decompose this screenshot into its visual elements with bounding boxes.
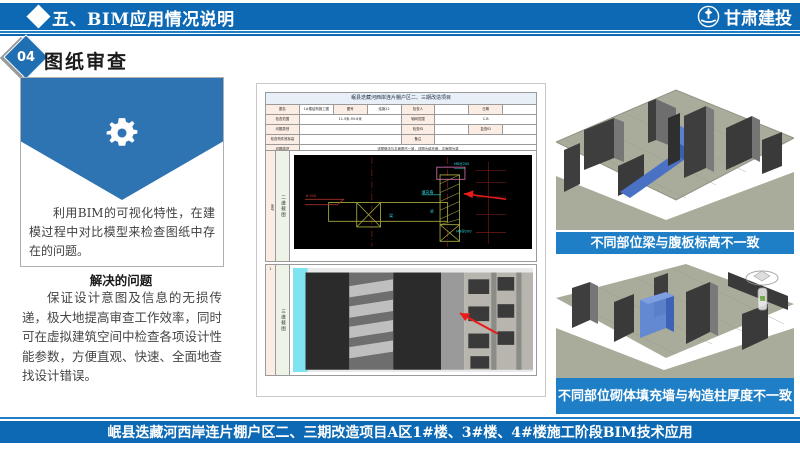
table-row: 问题类别 检查ID 复查ID: [266, 125, 537, 135]
cad-row-label: 二维截图: [275, 150, 289, 262]
company-logo: 甘肃建投: [697, 4, 792, 28]
cell-label: 日期: [469, 105, 503, 115]
cell-label: 图号: [333, 105, 367, 115]
cell-value: 1#楼结构施工图: [299, 105, 333, 115]
cell-value: 11.5米-95.6米: [299, 115, 401, 125]
cell-label: 复查ID: [469, 125, 503, 135]
bim-model-snapshot: [293, 268, 533, 372]
slide-root: 五、BIM应用情况说明 甘肃建投 04 图纸审查 利用BIM的可视化特性，在建模…: [0, 0, 800, 451]
caption-bottom: 不同部位砌体填充墙与构造柱厚度不一致: [556, 378, 794, 414]
section-title: 图纸审查: [44, 47, 128, 74]
company-emblem-icon: [697, 5, 720, 28]
bim-review-sheet[interactable]: 岷县迭藏河西岸连片棚户区二、三期改造项目 图名 1#楼结构施工图 图号 结施22…: [256, 83, 546, 397]
cell-value: C-B: [435, 115, 537, 125]
cad-red-arrow: [464, 190, 506, 199]
footer-accent-line: [0, 417, 800, 419]
header-accent-line: [0, 31, 800, 33]
model-row-label: 三维截图: [275, 264, 289, 376]
cad-viewport: 6.950 填充墙 梁 M8@200 M8@200 梁: [294, 155, 532, 249]
cell-label: 检查ID: [401, 125, 435, 135]
bim-beam-model: [556, 80, 794, 230]
sheet-title: 岷县迭藏河西岸连片棚户区二、三期改造项目: [266, 93, 537, 105]
cell-value: [299, 135, 401, 145]
body-paragraph: 保证设计意图及信息的无损传递，极大地提高审查工作效率，同时可在虚拟建筑空间中检查…: [22, 288, 222, 386]
cell-label: 检查人: [401, 105, 435, 115]
card-description: 利用BIM的可视化特性，在建模过程中对比模型来检查图纸中存在的问题。: [29, 204, 215, 261]
model-view-top[interactable]: [556, 80, 794, 230]
table-row: 检查范围 11.5米-95.6米 轴网范围 C-B: [266, 115, 537, 125]
model-canvas[interactable]: [289, 264, 537, 376]
bim-wall-model: [556, 258, 794, 378]
model-view-bottom[interactable]: [556, 258, 794, 378]
table-row: 图名 1#楼结构施工图 图号 结施22 检查人 日期: [266, 105, 537, 115]
cad-detail-drawing: 6.950 填充墙 梁 M8@200 M8@200 梁: [294, 155, 532, 249]
row-number: 1: [265, 264, 275, 376]
model-snapshot-row: 1 三维截图: [265, 264, 537, 376]
cell-value: [435, 105, 469, 115]
cad-drawing-row: 序号 二维截图: [265, 150, 537, 262]
cell-value: [435, 125, 469, 135]
caption-top: 不同部位梁与腹板标高不一致: [556, 232, 794, 254]
cell-value: [503, 105, 537, 115]
cell-label: 检查构件底标高: [266, 135, 300, 145]
cell-label: 检查范围: [266, 115, 300, 125]
section-number: 04: [10, 41, 42, 73]
cell-value: [503, 125, 537, 135]
cell-label: 图名: [266, 105, 300, 115]
svg-text:填充墙: 填充墙: [422, 190, 434, 195]
table-title-row: 岷县迭藏河西岸连片棚户区二、三期改造项目: [266, 93, 537, 105]
header-accent-line-2: [0, 34, 800, 36]
cell-label: 轴网范围: [401, 115, 435, 125]
cell-value: [435, 135, 537, 145]
cad-canvas[interactable]: 6.950 填充墙 梁 M8@200 M8@200 梁: [289, 150, 537, 262]
sub-heading: 解决的问题: [0, 270, 242, 289]
svg-text:M8@200: M8@200: [454, 162, 469, 166]
row-index-cad: 序号: [265, 150, 275, 262]
sheet-inner: 岷县迭藏河西岸连片棚户区二、三期改造项目 图名 1#楼结构施工图 图号 结施22…: [261, 88, 541, 392]
cell-value: 结施22: [367, 105, 401, 115]
info-card: 利用BIM的可视化特性，在建模过程中对比模型来检查图纸中存在的问题。: [20, 77, 224, 267]
page-title: 五、BIM应用情况说明: [52, 5, 235, 30]
table-row: 检查构件底标高 备注: [266, 135, 537, 145]
svg-text:梁: 梁: [430, 208, 434, 213]
footer-title: 岷县迭藏河西岸连片棚户区二、三期改造项目A区1#楼、3#楼、4#楼施工阶段BIM…: [0, 421, 800, 443]
svg-text:梁: 梁: [389, 213, 393, 218]
cell-label: 备注: [401, 135, 435, 145]
svg-text:M8@200: M8@200: [456, 229, 471, 233]
gear-icon: [105, 116, 139, 150]
cell-label: 问题类别: [266, 125, 300, 135]
svg-text:6.950: 6.950: [306, 194, 317, 198]
company-name: 甘肃建投: [724, 4, 792, 29]
cell-value: [299, 125, 401, 135]
